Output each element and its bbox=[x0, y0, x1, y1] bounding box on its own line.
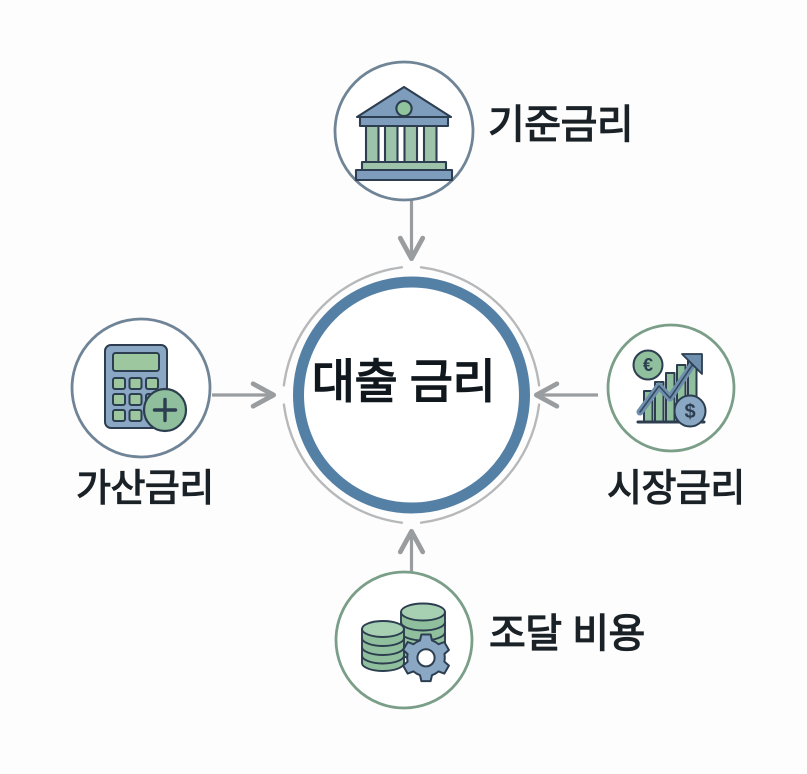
loan-rate-diagram: € $ bbox=[0, 0, 807, 774]
coin-stack-short bbox=[362, 621, 404, 671]
node-label-spread-rate: 가산금리 bbox=[76, 470, 214, 508]
node-base-rate[interactable] bbox=[335, 62, 473, 200]
node-label-funding-cost: 조달 비용 bbox=[489, 614, 645, 654]
node-label-base-rate: 기준금리 bbox=[488, 105, 633, 145]
center-label: 대출 금리 bbox=[0, 358, 807, 405]
node-label-market-rate: 시장금리 bbox=[607, 470, 745, 508]
node-funding-cost[interactable] bbox=[336, 572, 472, 708]
